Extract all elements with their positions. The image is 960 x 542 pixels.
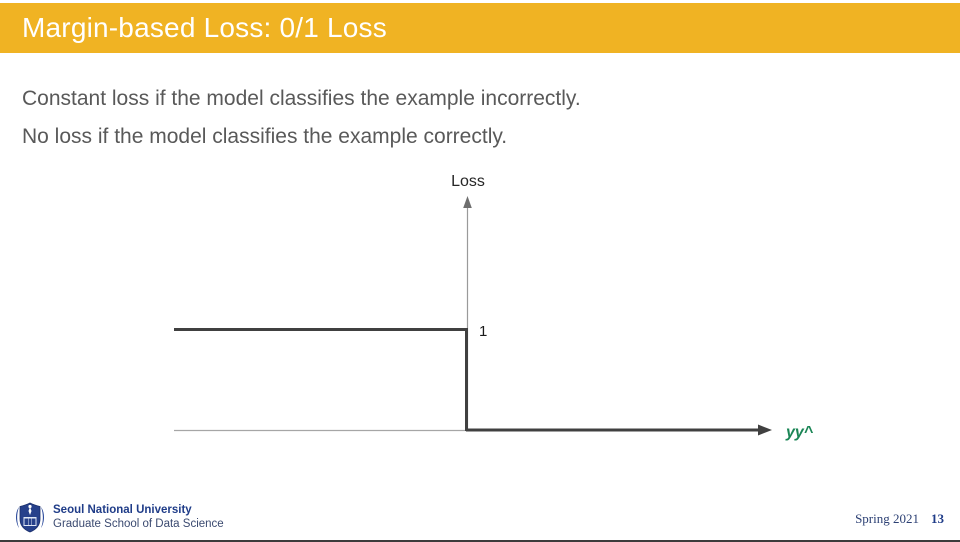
x-axis-label: yy^ xyxy=(785,424,814,441)
slide-footer: Seoul National University Graduate Schoo… xyxy=(0,498,960,540)
page-number: 13 xyxy=(931,511,944,527)
zero-one-loss-chart: Loss 1 yy^ xyxy=(0,160,960,470)
snu-crest-icon xyxy=(14,500,46,534)
page-title: Margin-based Loss: 0/1 Loss xyxy=(22,12,387,44)
brand-text-group: Seoul National University Graduate Schoo… xyxy=(53,503,224,532)
slide-title-bar: Margin-based Loss: 0/1 Loss xyxy=(0,3,960,53)
term-label: Spring 2021 xyxy=(855,511,919,527)
body-text-block: Constant loss if the model classifies th… xyxy=(22,80,922,156)
slide-root: Margin-based Loss: 0/1 Loss Constant los… xyxy=(0,0,960,542)
y-axis-label: Loss xyxy=(451,173,485,190)
body-line-2: No loss if the model classifies the exam… xyxy=(22,118,922,156)
arrow-up-icon xyxy=(463,196,472,208)
arrow-right-icon xyxy=(758,425,772,436)
y-axis-tick-label-1: 1 xyxy=(479,323,487,340)
chart-svg: Loss 1 yy^ xyxy=(0,160,960,470)
university-name: Seoul National University xyxy=(53,503,224,517)
body-line-1: Constant loss if the model classifies th… xyxy=(22,80,922,118)
school-name: Graduate School of Data Science xyxy=(53,517,224,531)
footer-branding: Seoul National University Graduate Schoo… xyxy=(14,500,224,534)
footer-meta: Spring 2021 13 xyxy=(855,511,944,527)
